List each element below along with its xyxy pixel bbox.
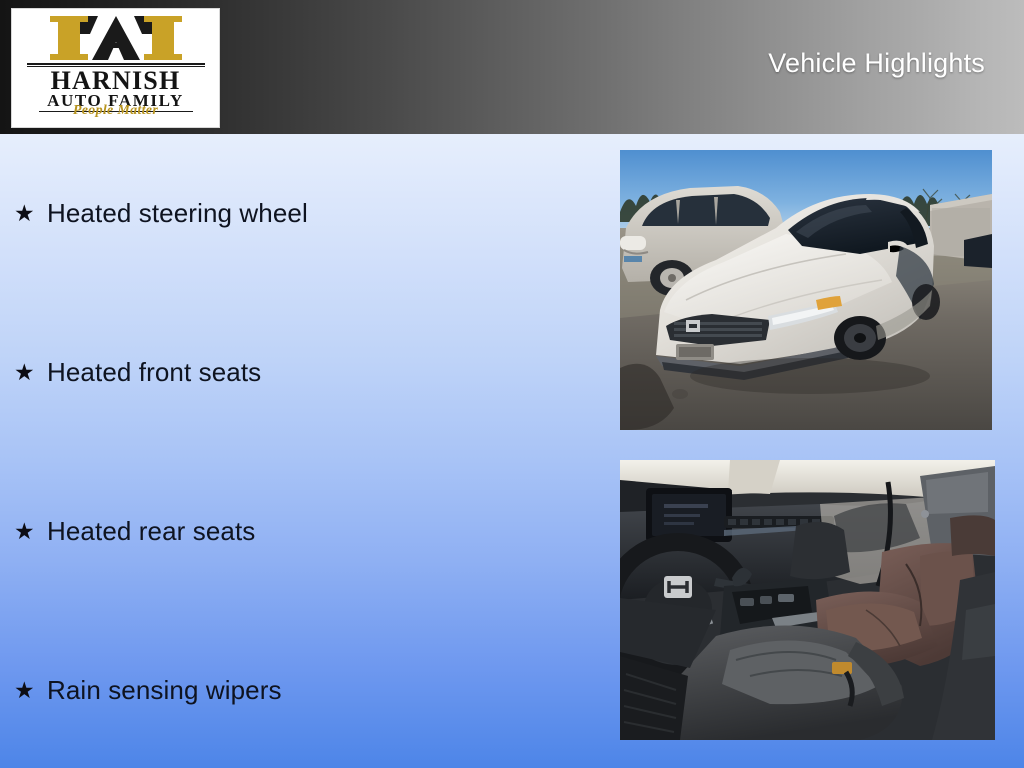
list-item-label: Heated front seats [47, 357, 261, 388]
brand-logo-inner: HARNISH AUTO FAMILY People Matter [23, 16, 209, 120]
star-bullet-icon: ★ [14, 520, 33, 543]
vehicle-exterior-photo [620, 150, 992, 430]
vehicle-interior-photo [620, 460, 995, 740]
list-item: ★ Rain sensing wipers [14, 675, 282, 706]
page-title: Vehicle Highlights [768, 48, 985, 79]
star-bullet-icon: ★ [14, 679, 33, 702]
highlights-list: ★ Heated steering wheel ★ Heated front s… [0, 134, 600, 768]
logo-tagline: People Matter [23, 104, 209, 118]
list-item-label: Rain sensing wipers [47, 675, 282, 706]
list-item: ★ Heated front seats [14, 357, 261, 388]
brand-logo[interactable]: HARNISH AUTO FAMILY People Matter [11, 8, 220, 128]
star-bullet-icon: ★ [14, 361, 33, 384]
list-item: ★ Heated steering wheel [14, 198, 308, 229]
list-item: ★ Heated rear seats [14, 516, 255, 547]
star-bullet-icon: ★ [14, 202, 33, 225]
list-item-label: Heated steering wheel [47, 198, 308, 229]
list-item-label: Heated rear seats [47, 516, 255, 547]
harnish-monogram-icon [23, 16, 209, 62]
